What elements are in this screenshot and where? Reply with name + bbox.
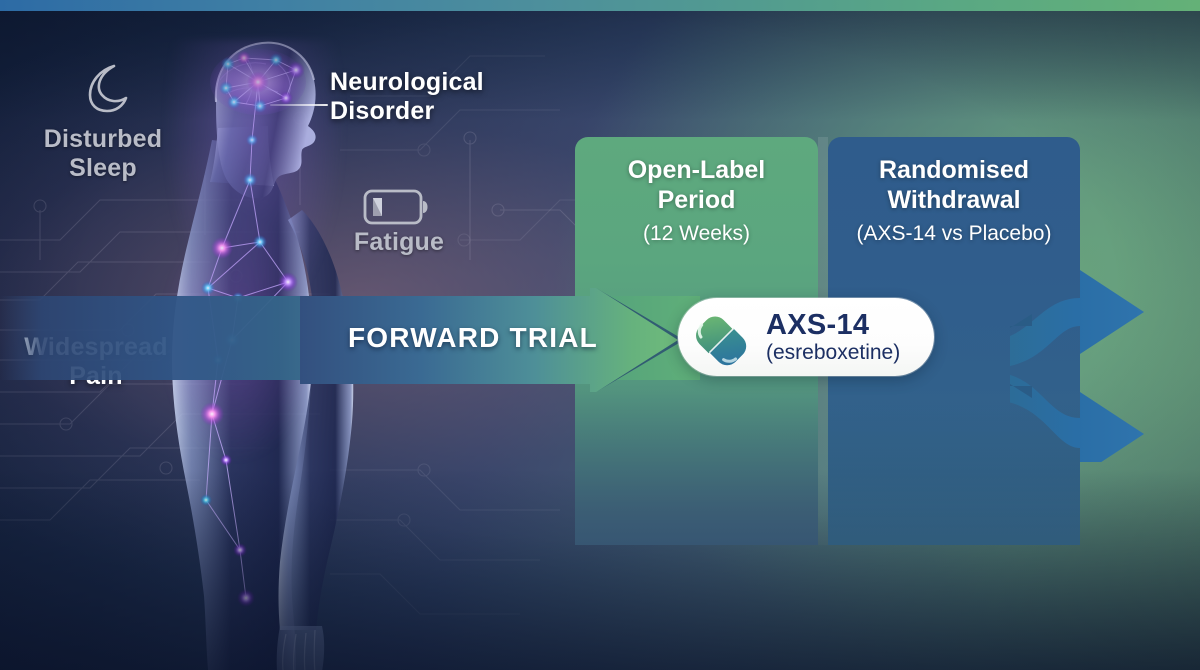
neuro-line-2: Disorder <box>330 97 510 126</box>
symptom-label-fatigue: Fatigue <box>328 228 470 257</box>
panel-open-title-line1: Open-Label <box>575 155 818 185</box>
top-accent-strip <box>0 0 1200 11</box>
leader-line-icon <box>270 104 328 106</box>
panel-open-subtitle: (12 Weeks) <box>575 222 818 246</box>
drug-generic-name: (esreboxetine) <box>766 342 900 364</box>
panel-open-title-line2: Period <box>575 185 818 215</box>
infographic-canvas: Disturbed Sleep Fatigue Widespread Pain … <box>0 0 1200 670</box>
sleep-line-1: Disturbed <box>18 125 188 154</box>
panel-rand-title-line1: Randomised <box>828 155 1080 185</box>
crescent-moon-icon <box>78 62 130 114</box>
low-battery-icon <box>363 186 433 228</box>
sleep-line-2: Sleep <box>18 154 188 183</box>
panel-rand-title: Randomised Withdrawal <box>828 155 1080 215</box>
forward-trial-label: FORWARD TRIAL <box>348 322 628 354</box>
panel-open-text: Open-Label Period (12 Weeks) <box>575 137 818 246</box>
drug-badge[interactable]: AXS-14 (esreboxetine) <box>678 298 934 376</box>
outcome-arrow-lower <box>1010 372 1144 462</box>
capsule-pill-icon <box>694 306 756 368</box>
panel-open-title: Open-Label Period <box>575 155 818 215</box>
neuro-line-1: Neurological <box>330 68 510 97</box>
panel-rand-text: Randomised Withdrawal (AXS-14 vs Placebo… <box>828 137 1080 246</box>
drug-text: AXS-14 (esreboxetine) <box>766 310 900 363</box>
symptom-label-neurological-disorder: Neurological Disorder <box>330 68 510 125</box>
drug-name: AXS-14 <box>766 310 900 340</box>
panel-rand-subtitle: (AXS-14 vs Placebo) <box>828 222 1080 246</box>
panel-rand-title-line2: Withdrawal <box>828 185 1080 215</box>
symptom-label-disturbed-sleep: Disturbed Sleep <box>18 125 188 182</box>
outcome-branch-arrows <box>1010 222 1200 462</box>
